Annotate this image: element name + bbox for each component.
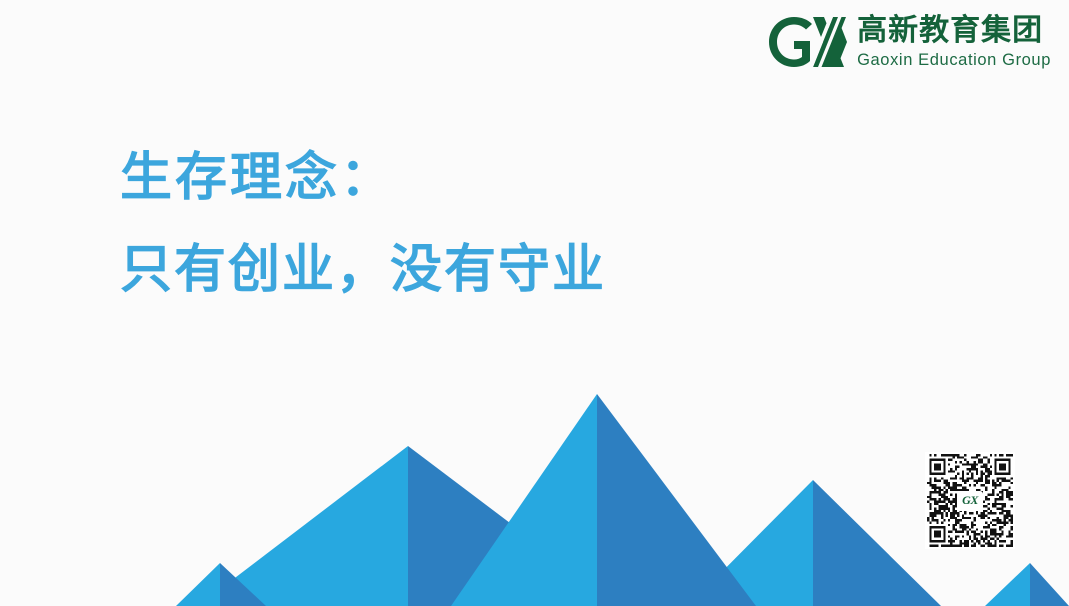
headline-line-1: 生存理念： <box>120 132 606 224</box>
slide-canvas: 高新教育集团 Gaoxin Education Group 生存理念： 只有创业… <box>0 0 1069 606</box>
brand-text-block: 高新教育集团 Gaoxin Education Group <box>857 16 1051 69</box>
headline: 生存理念： 只有创业，没有守业 <box>120 132 606 316</box>
peak-small-right-light <box>985 563 1030 606</box>
brand-name-en: Gaoxin Education Group <box>857 52 1051 69</box>
peak-small-right-dark <box>1030 563 1069 606</box>
qr-code[interactable]: GX <box>925 452 1015 549</box>
peak-mid-right-dark <box>813 480 941 606</box>
mountain-range-graphic <box>0 366 1069 606</box>
qr-center-logo: GX <box>957 491 983 511</box>
headline-line-2: 只有创业，没有守业 <box>120 224 606 316</box>
gx-monogram-icon <box>765 13 847 71</box>
peak-small-left-light <box>176 563 220 606</box>
brand-logo: 高新教育集团 Gaoxin Education Group <box>765 8 1051 76</box>
brand-name-cn: 高新教育集团 <box>857 16 1051 46</box>
